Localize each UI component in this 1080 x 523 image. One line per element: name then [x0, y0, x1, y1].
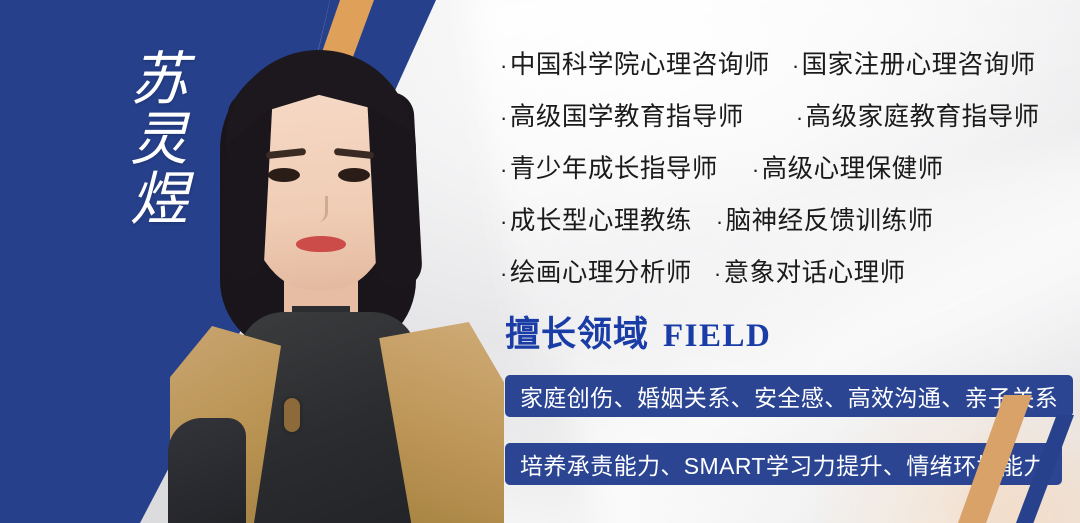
credential-row: ·青少年成长指导师 ·高级心理保健师: [500, 148, 1056, 200]
portrait-brooch-icon: [284, 398, 300, 432]
credentials-list: ·中国科学院心理咨询师 ·国家注册心理咨询师 ·高级国学教育指导师 ·高级家庭教…: [500, 44, 1056, 304]
bullet-icon: ·: [500, 209, 508, 234]
credential-row: ·绘画心理分析师 ·意象对话心理师: [500, 252, 1056, 304]
bullet-icon: ·: [796, 105, 804, 130]
credential-item: ·意象对话心理师: [714, 252, 906, 289]
field-heading-cn: 擅长领域: [505, 306, 649, 357]
portrait-sleeve-left: [168, 418, 246, 523]
portrait-nose: [314, 196, 328, 222]
bullet-icon: ·: [714, 261, 722, 286]
field-heading-en: FIELD: [663, 318, 771, 355]
bullet-icon: ·: [716, 209, 724, 234]
credential-item: ·高级国学教育指导师: [500, 96, 744, 133]
credential-item: ·绘画心理分析师: [500, 252, 692, 289]
credential-item: ·成长型心理教练: [500, 200, 692, 237]
bullet-icon: ·: [500, 261, 508, 286]
credential-item: ·青少年成长指导师: [500, 148, 718, 185]
credential-row: ·成长型心理教练 ·脑神经反馈训练师: [500, 200, 1056, 252]
credential-item: ·高级心理保健师: [752, 148, 944, 185]
portrait-eye-left: [268, 168, 300, 182]
bullet-icon: ·: [500, 53, 508, 78]
portrait-photo: [168, 0, 520, 523]
bullet-icon: ·: [500, 105, 508, 130]
credential-row: ·中国科学院心理咨询师 ·国家注册心理咨询师: [500, 44, 1056, 96]
portrait-lips: [296, 236, 346, 252]
field-tag-1: 家庭创伤、婚姻关系、安全感、高效沟通、亲子关系: [505, 375, 1073, 417]
bullet-icon: ·: [792, 53, 800, 78]
credential-item: ·高级家庭教育指导师: [796, 96, 1040, 133]
credential-item: ·国家注册心理咨询师: [792, 44, 1036, 81]
portrait-eye-right: [338, 168, 370, 182]
credential-item: ·中国科学院心理咨询师: [500, 44, 770, 81]
credential-row: ·高级国学教育指导师 ·高级家庭教育指导师: [500, 96, 1056, 148]
credential-item: ·脑神经反馈训练师: [716, 200, 934, 237]
bullet-icon: ·: [500, 157, 508, 182]
field-heading: 擅长领域 FIELD: [505, 306, 771, 357]
bullet-icon: ·: [752, 157, 760, 182]
profile-banner: 苏灵煜 ·中国科学院心理咨询师 ·国家注册心理咨询师 ·高级国学教育指导师: [0, 0, 1080, 523]
